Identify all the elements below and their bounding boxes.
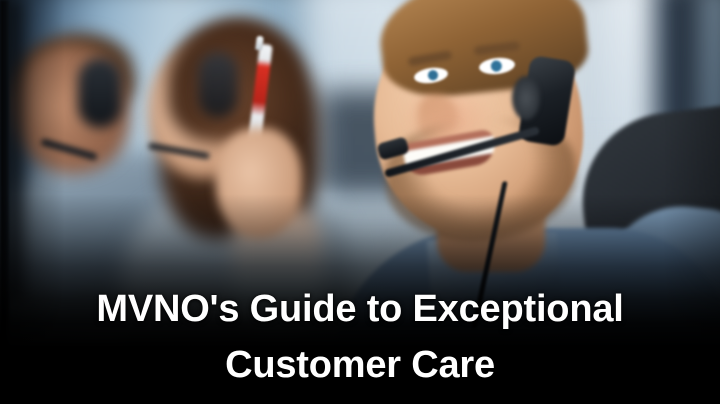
banner-image: MVNO's Guide to Exceptional Customer Car… bbox=[0, 0, 720, 404]
caption-line-2: Customer Care bbox=[0, 337, 720, 393]
caption-line-1: MVNO's Guide to Exceptional bbox=[0, 281, 720, 337]
banner-caption: MVNO's Guide to Exceptional Customer Car… bbox=[0, 281, 720, 393]
